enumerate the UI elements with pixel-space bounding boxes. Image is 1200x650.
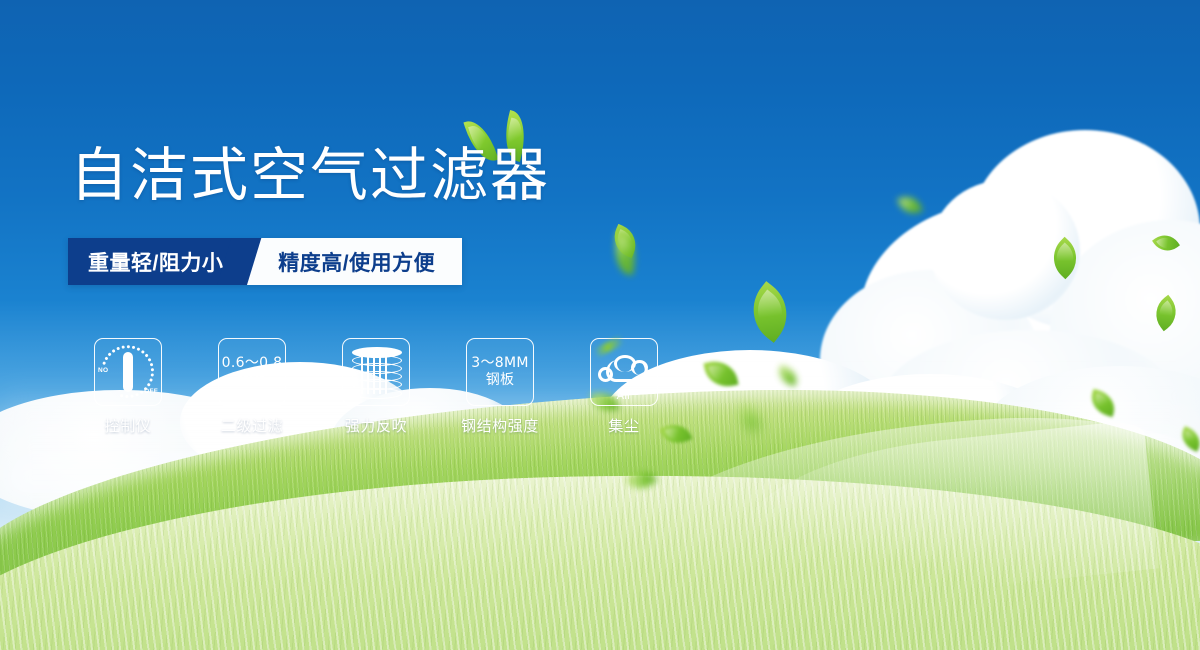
feature-list: NO OFF 控制仪 0.6〜0.8 MPA 二级过滤 bbox=[70, 338, 682, 436]
dial-label-no: NO bbox=[98, 367, 108, 374]
feature-icon-box: Air bbox=[590, 338, 658, 406]
feature-label: 强力反吹 bbox=[345, 415, 407, 436]
feature-item-dust-collection[interactable]: Air 集尘 bbox=[566, 338, 682, 436]
feature-item-pulse-blowback[interactable]: 强力反吹 bbox=[318, 338, 434, 436]
air-cloud-icon: Air bbox=[598, 350, 650, 390]
feature-label: 控制仪 bbox=[105, 415, 152, 436]
feature-icon-box: NO OFF bbox=[94, 338, 162, 406]
tagline-bar: 重量轻/阻力小 精度高/使用方便 bbox=[68, 238, 462, 285]
product-hero-banner: 自洁式空气过滤器 重量轻/阻力小 精度高/使用方便 bbox=[0, 0, 1200, 650]
air-label: Air bbox=[598, 390, 650, 402]
feature-icon-box: 0.6〜0.8 MPA bbox=[218, 338, 286, 406]
dial-label-off: OFF bbox=[144, 388, 158, 395]
feature-item-two-stage-filter[interactable]: 0.6〜0.8 MPA 二级过滤 bbox=[194, 338, 310, 436]
feature-icon-box: 3〜8MM 钢板 bbox=[466, 338, 534, 406]
tagline-left: 重量轻/阻力小 bbox=[68, 238, 241, 285]
feature-label: 钢结构强度 bbox=[461, 415, 539, 436]
feature-label: 二级过滤 bbox=[221, 415, 283, 436]
feature-item-controller[interactable]: NO OFF 控制仪 bbox=[70, 338, 186, 436]
dial-pointer-icon bbox=[123, 352, 133, 392]
filter-cartridge-icon bbox=[352, 347, 400, 397]
page-title: 自洁式空气过滤器 bbox=[70, 146, 550, 204]
steel-plate-text-icon: 3〜8MM 钢板 bbox=[471, 355, 528, 389]
dial-gauge-icon: NO OFF bbox=[99, 343, 157, 401]
pressure-text-icon: 0.6〜0.8 MPA bbox=[222, 355, 283, 389]
tagline-right: 精度高/使用方便 bbox=[241, 238, 462, 285]
leaf-streak-decoration bbox=[594, 335, 625, 357]
feature-item-steel-strength[interactable]: 3〜8MM 钢板 钢结构强度 bbox=[442, 338, 558, 436]
feature-label: 集尘 bbox=[608, 415, 639, 436]
feature-icon-box bbox=[342, 338, 410, 406]
